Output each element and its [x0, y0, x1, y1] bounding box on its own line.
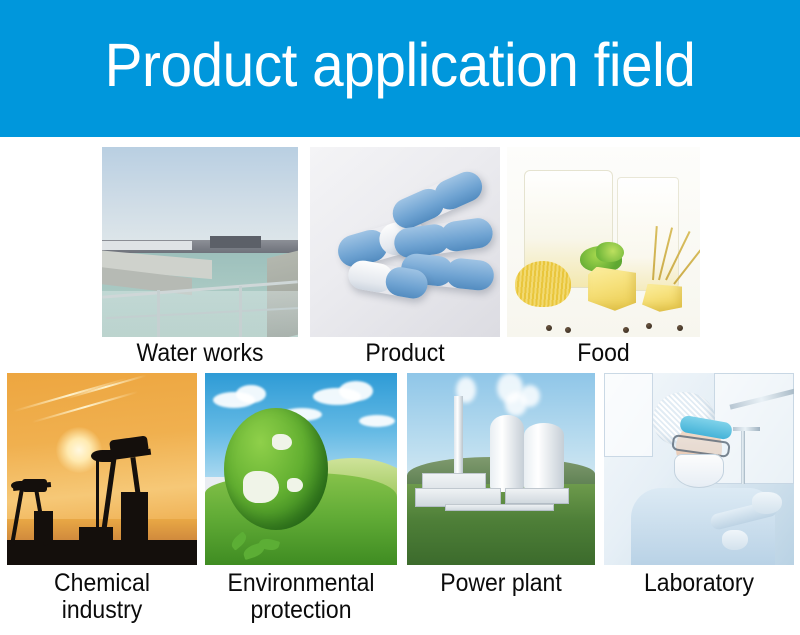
image-tile-laboratory	[604, 373, 794, 565]
caption-food: Food	[515, 340, 693, 367]
page-title: Product application field	[28, 30, 772, 100]
blue-white-capsules-photo	[310, 147, 500, 337]
oil-pumpjack-sunset-photo	[7, 373, 197, 565]
caption-power-plant: Power plant	[415, 570, 588, 597]
dairy-pasta-cheese-photo	[507, 147, 700, 337]
caption-laboratory: Laboratory	[612, 570, 787, 597]
image-tile-product	[310, 147, 500, 337]
cooling-towers-power-station-photo	[407, 373, 595, 565]
water-treatment-plant-photo	[102, 147, 298, 337]
caption-environmental-protection: Environmental protection	[213, 570, 390, 624]
caption-water-works: Water works	[110, 340, 290, 367]
green-globe-meadow-photo	[205, 373, 397, 565]
image-tile-chemical-industry	[7, 373, 197, 565]
image-tile-power-plant	[407, 373, 595, 565]
image-tile-food	[507, 147, 700, 337]
image-tile-water-works	[102, 147, 298, 337]
caption-product: Product	[318, 340, 493, 367]
image-tile-environmental-protection	[205, 373, 397, 565]
lab-technician-photo	[604, 373, 794, 565]
caption-chemical-industry: Chemical industry	[15, 570, 190, 624]
header-banner: Product application field	[0, 0, 800, 137]
